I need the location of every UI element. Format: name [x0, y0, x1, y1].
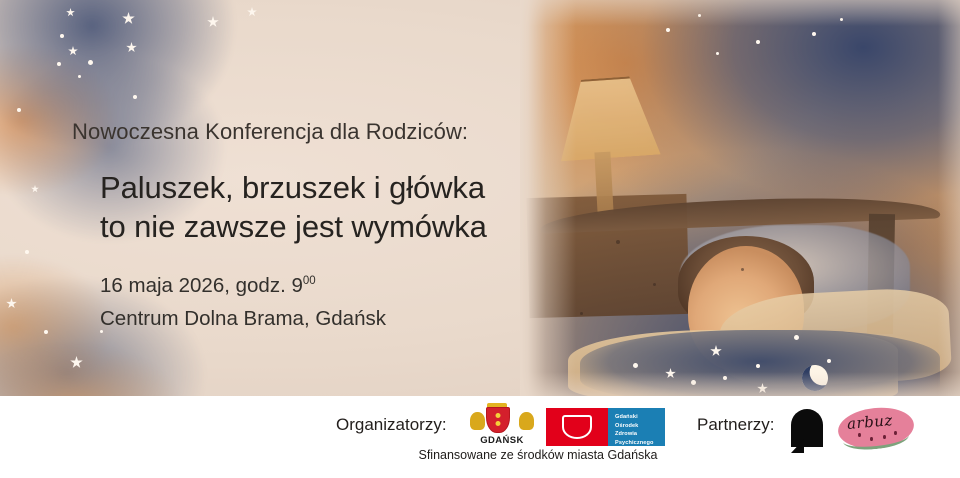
conference-poster: Nowoczesna Konferencja dla Rodziców: Pal… [0, 0, 960, 478]
gozp-line-1: Gdański [615, 413, 665, 422]
star-dot-icon [25, 250, 29, 254]
gozp-crest-icon [546, 408, 608, 446]
gozp-line-2: Ośrodek [615, 422, 665, 431]
star-dot-icon [812, 32, 816, 36]
poster-meta: 16 maja 2026, godz. 900 Centrum Dolna Br… [72, 269, 542, 335]
lion-right-icon [519, 412, 534, 430]
lamp-stem [594, 152, 613, 215]
lion-left-icon [470, 412, 485, 430]
footer-logo-row: Organizatorzy: GDAŃSK Gdański Ośrodek Zd… [0, 402, 960, 450]
paint-speck [741, 268, 744, 271]
star-dot-icon [691, 380, 696, 385]
gozp-line-3: Zdrowia [615, 430, 665, 439]
event-venue: Centrum Dolna Brama, Gdańsk [100, 302, 542, 335]
star-dot-icon [78, 75, 81, 78]
funding-note-text: Sfinansowane ze środków miasta Gdańska [418, 448, 657, 462]
star-dot-icon [633, 363, 638, 368]
event-time-minutes: 00 [303, 275, 316, 287]
funding-note: Sfinansowane ze środków miasta Gdańska [0, 448, 960, 462]
poster-title-line-1: Paluszek, brzuszek i główka [100, 168, 542, 208]
gdansk-wordmark: GDAŃSK [468, 435, 536, 446]
gozp-line-4: Psychicznego [615, 439, 665, 448]
star-dot-icon [827, 359, 831, 363]
arbuz-logo[interactable]: arbuz [838, 408, 914, 448]
star-dot-icon [17, 108, 21, 112]
star-dot-icon [57, 62, 61, 66]
star-dot-icon [88, 60, 93, 65]
star-dot-icon [756, 364, 760, 368]
star-dot-icon [698, 14, 701, 17]
gdansk-logo[interactable]: GDAŃSK [468, 406, 536, 450]
star-dot-icon [756, 40, 760, 44]
poster-title-line-2: to nie zawsze jest wymówka [100, 207, 542, 247]
hero-artwork: Nowoczesna Konferencja dla Rodziców: Pal… [0, 0, 960, 396]
speech-bubble-logo[interactable] [791, 409, 823, 447]
event-datetime: 16 maja 2026, godz. 900 [100, 269, 542, 302]
partners-label: Partnerzy: [697, 415, 774, 435]
watermelon-seed [870, 437, 873, 441]
watermelon-seed [894, 431, 897, 435]
gozp-logo[interactable]: Gdański Ośrodek Zdrowia Psychicznego [546, 408, 665, 446]
watermelon-seed [883, 435, 886, 439]
star-dot-icon [716, 52, 719, 55]
paint-speck [616, 240, 620, 244]
poster-copy: Nowoczesna Konferencja dla Rodziców: Pal… [72, 118, 542, 335]
watermelon-seed [858, 433, 861, 437]
star-dot-icon [60, 34, 64, 38]
poster-title: Paluszek, brzuszek i główka to nie zawsz… [72, 168, 542, 247]
paint-speck [580, 312, 583, 315]
star-dot-icon [666, 28, 670, 32]
poster-kicker: Nowoczesna Konferencja dla Rodziców: [72, 118, 542, 146]
star-dot-icon [794, 335, 799, 340]
paint-speck [653, 283, 656, 286]
watercolour-illustration [520, 0, 960, 396]
star-dot-icon [44, 330, 48, 334]
organizers-label: Organizatorzy: [336, 415, 447, 435]
star-dot-icon [840, 18, 843, 21]
star-dot-icon [133, 95, 137, 99]
crest-icon [486, 407, 510, 433]
poster-footer: Organizatorzy: GDAŃSK Gdański Ośrodek Zd… [0, 396, 960, 478]
star-dot-icon [723, 376, 727, 380]
event-date: 16 maja 2026, godz. 9 [100, 274, 303, 297]
gozp-wordmark: Gdański Ośrodek Zdrowia Psychicznego [608, 408, 665, 446]
